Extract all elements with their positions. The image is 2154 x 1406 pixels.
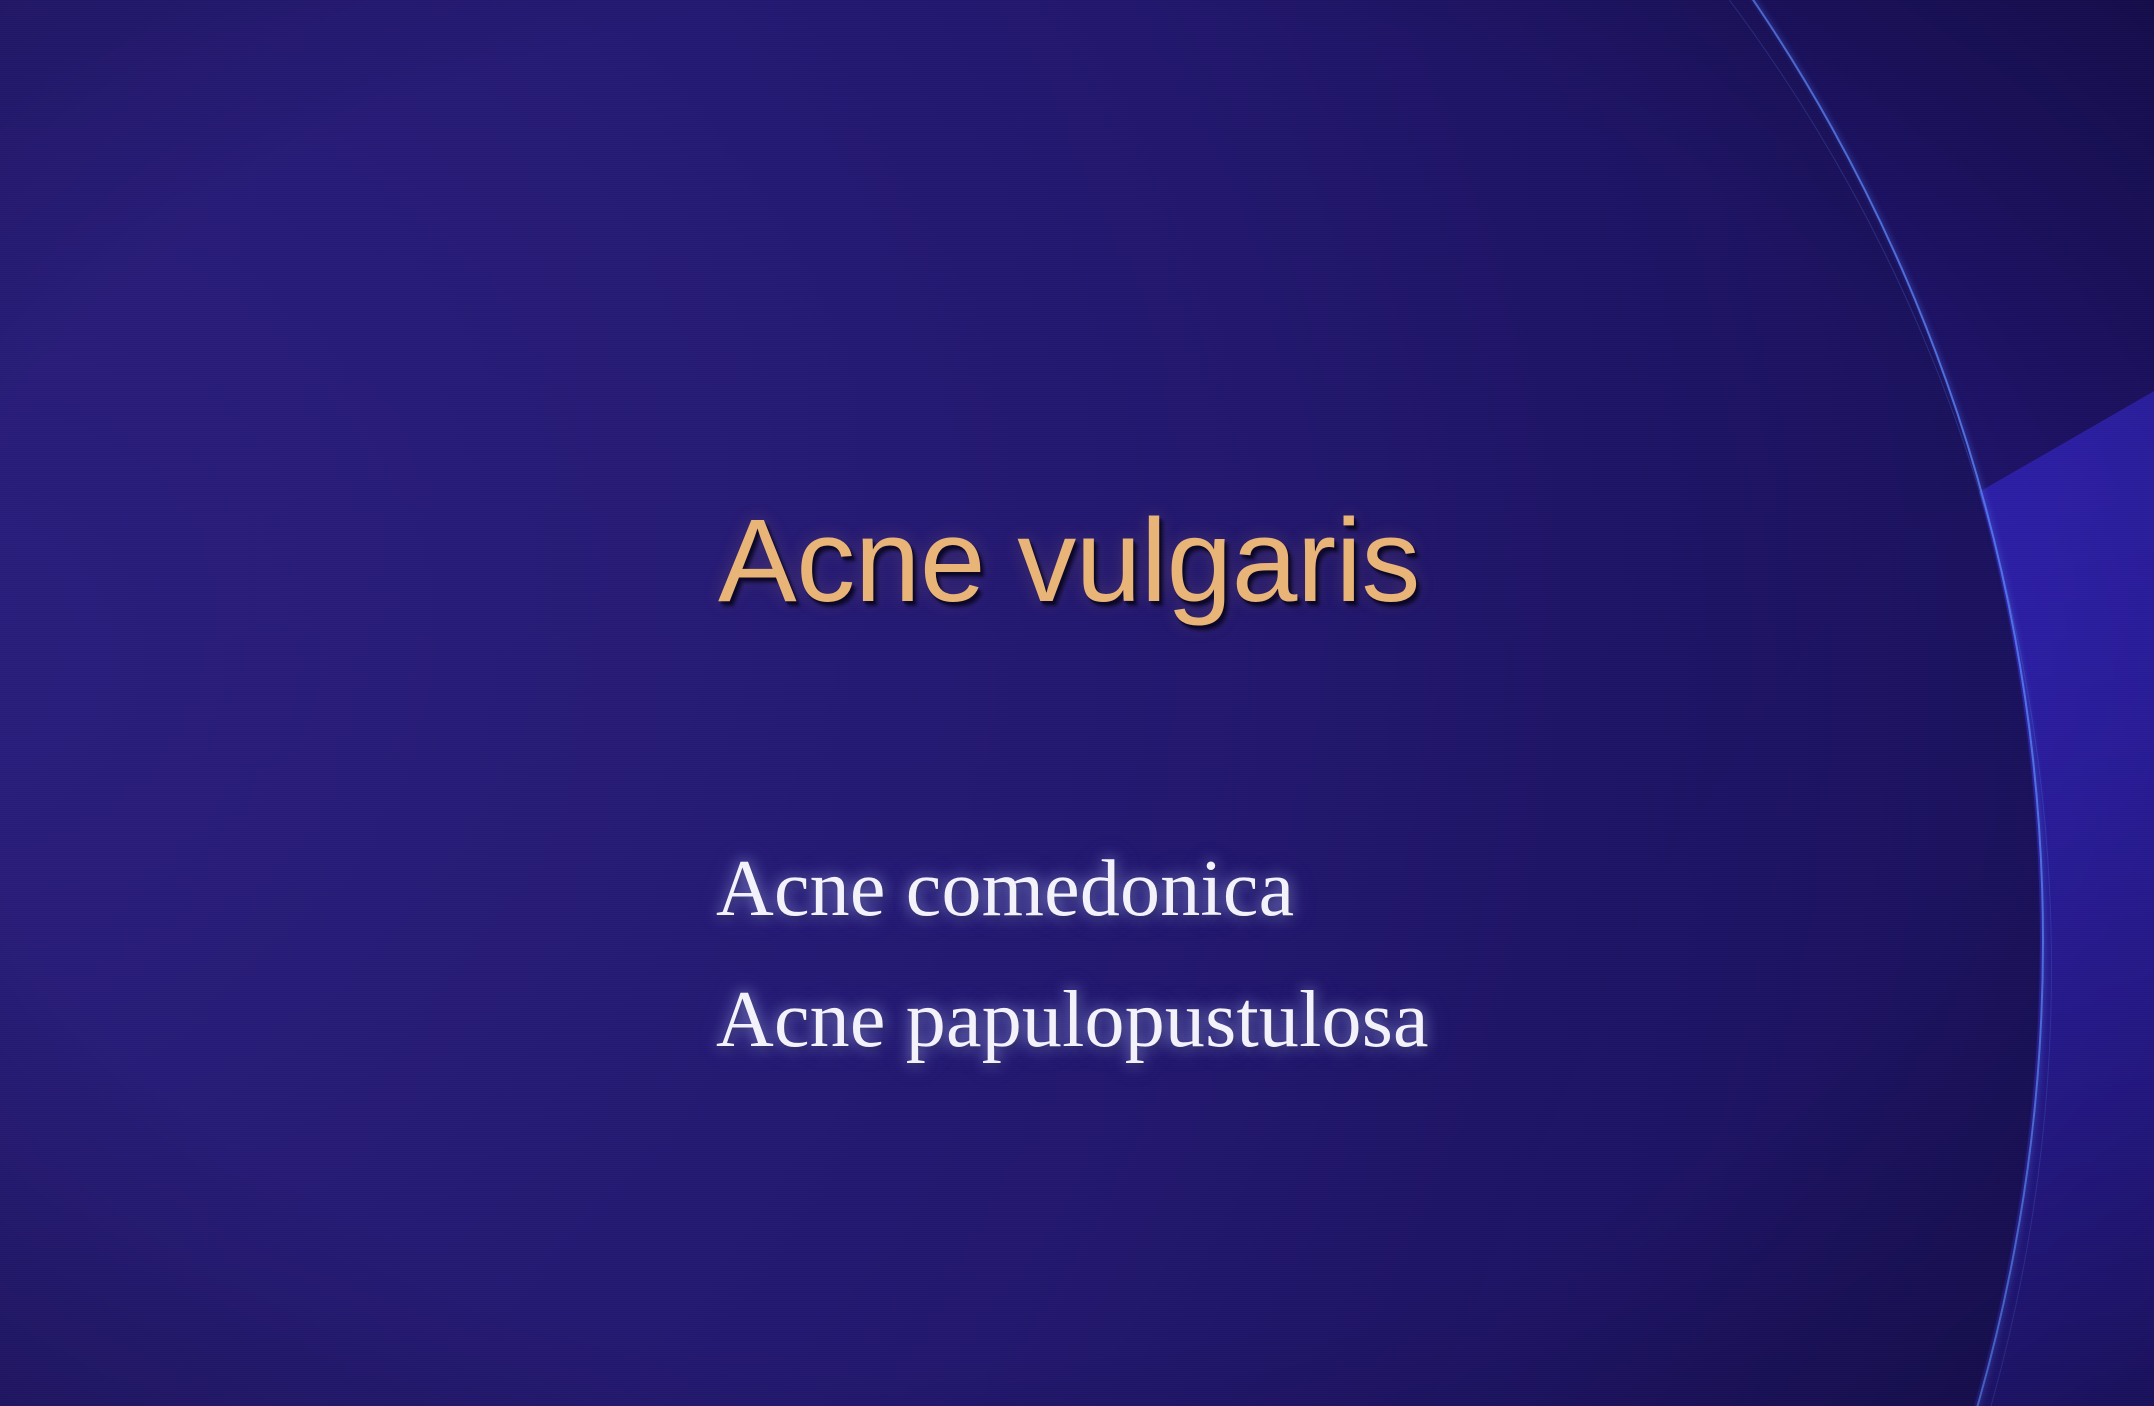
slide-title: Acne vulgaris — [718, 500, 1420, 624]
slide-content: Acne vulgaris Acne comedonica Acne papul… — [0, 0, 2154, 1406]
slide-body-list: Acne comedonica Acne papulopustulosa — [716, 824, 1429, 1086]
presentation-slide: Acne vulgaris Acne comedonica Acne papul… — [0, 0, 2154, 1406]
body-list-item: Acne comedonica — [716, 824, 1429, 955]
body-list-item: Acne papulopustulosa — [716, 955, 1429, 1086]
